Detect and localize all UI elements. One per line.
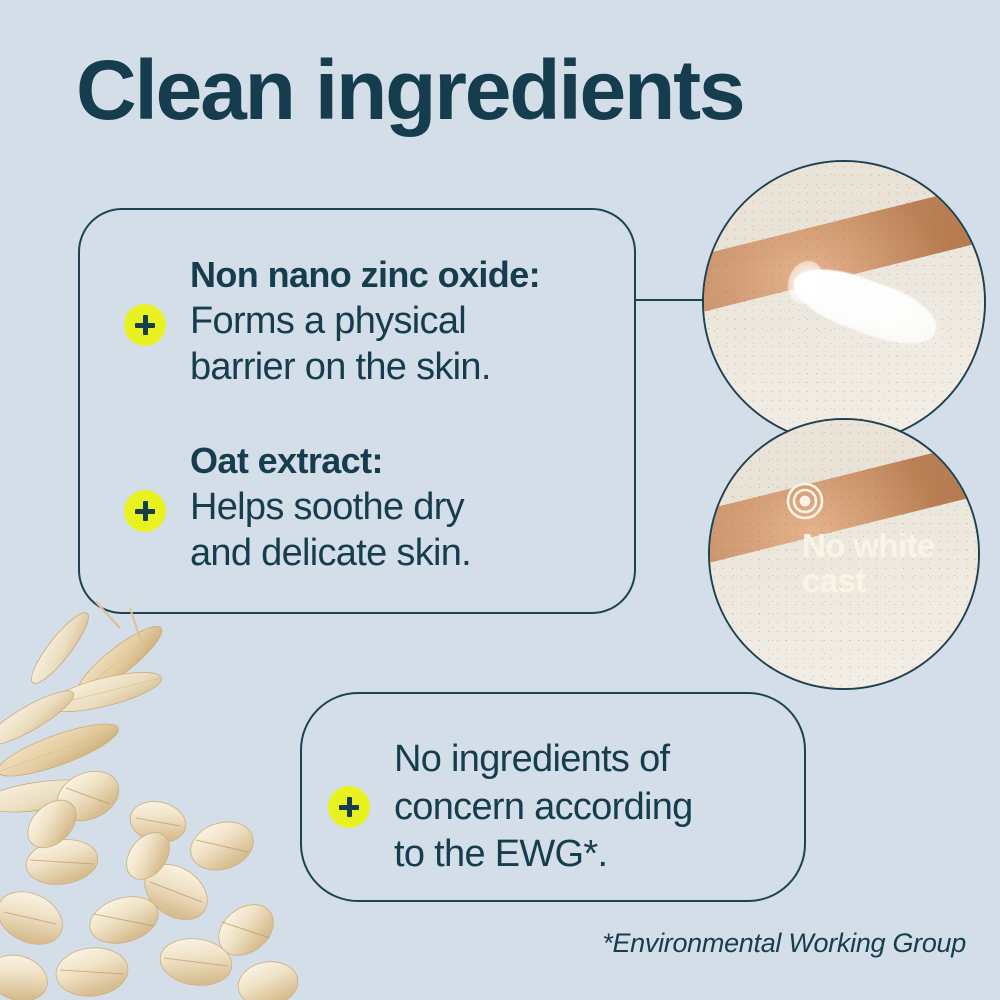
bullet-ewg-body-line-1: No ingredients of — [394, 736, 693, 784]
bullet-oat-body-line-2: and delicate skin. — [190, 530, 471, 576]
bullet-oat-extract: Oat extract: Helps soothe dry and delica… — [124, 442, 471, 577]
no-white-cast-label: No white cast — [802, 528, 935, 599]
bullet-zinc-body-line-1: Forms a physical — [190, 298, 540, 344]
target-icon — [786, 482, 824, 520]
plus-icon — [124, 490, 166, 532]
no-cast-photo: No white cast — [710, 420, 978, 688]
bullet-oat-body-line-1: Helps soothe dry — [190, 484, 471, 530]
plus-icon — [328, 786, 370, 828]
oat-stalks — [0, 602, 169, 818]
plus-icon — [124, 304, 166, 346]
bullet-zinc-oxide: Non nano zinc oxide: Forms a physical ba… — [124, 256, 540, 391]
bullet-ewg-body: No ingredients of concern according to t… — [394, 736, 693, 879]
infographic-canvas: Clean ingredients Non nano zinc oxide: F… — [0, 0, 1000, 1000]
bullet-zinc-body: Forms a physical barrier on the skin. — [190, 298, 540, 391]
oat-flakes — [0, 762, 300, 1000]
page-title: Clean ingredients — [76, 48, 743, 132]
bullet-zinc-text: Non nano zinc oxide: Forms a physical ba… — [190, 256, 540, 391]
footnote: *Environmental Working Group — [602, 928, 966, 959]
swatch-photo — [704, 162, 984, 442]
bullet-zinc-body-line-2: barrier on the skin. — [190, 344, 540, 390]
photo-circle-no-white-cast: No white cast — [708, 418, 980, 690]
photo-circle-swatch — [702, 160, 986, 444]
bullet-oat-text: Oat extract: Helps soothe dry and delica… — [190, 442, 471, 577]
bullet-oat-heading: Oat extract: — [190, 442, 471, 481]
bullet-ewg-text: No ingredients of concern according to t… — [394, 736, 693, 879]
bullet-zinc-heading: Non nano zinc oxide: — [190, 256, 540, 295]
no-white-cast-line-1: No white — [802, 528, 935, 563]
no-white-cast-line-2: cast — [802, 563, 935, 598]
bullet-ewg-body-line-3: to the EWG*. — [394, 831, 693, 879]
oat-decoration — [0, 600, 300, 1000]
oat-flake-creases — [4, 788, 270, 974]
bullet-ewg-body-line-2: concern according — [394, 784, 693, 832]
bullet-oat-body: Helps soothe dry and delicate skin. — [190, 484, 471, 577]
bullet-ewg: No ingredients of concern according to t… — [328, 736, 693, 879]
